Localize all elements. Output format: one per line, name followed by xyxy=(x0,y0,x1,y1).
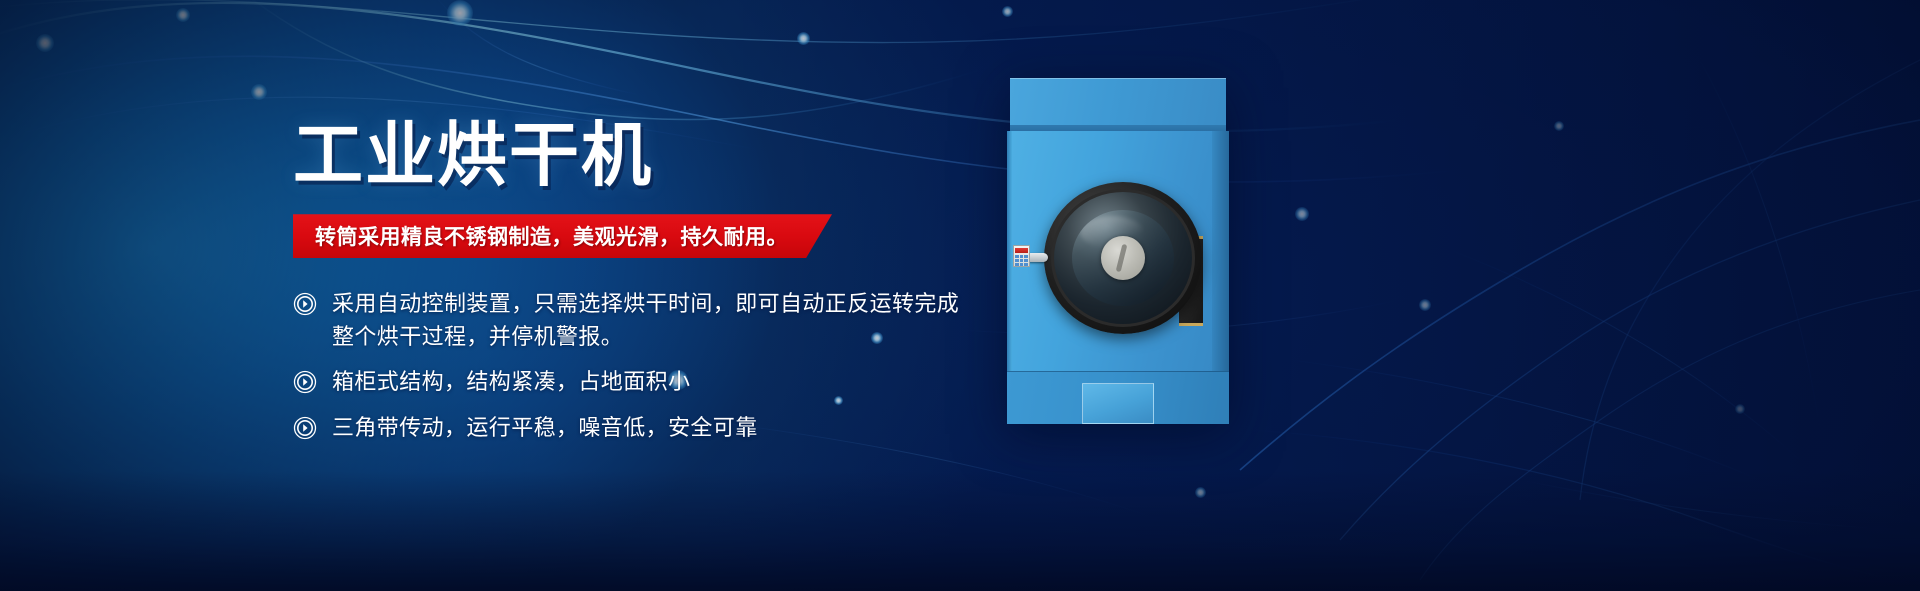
dryer-right-edge xyxy=(1212,131,1229,371)
glow-dot xyxy=(251,84,267,100)
product-hero-banner: 工业烘干机 转筒采用精良不锈钢制造，美观光滑，持久耐用。 采用自动控制装置，只需… xyxy=(0,0,1920,591)
glow-dot xyxy=(1002,6,1013,17)
glow-dot xyxy=(447,0,473,26)
dryer-round-door xyxy=(1044,182,1202,334)
highlight-banner-wrap: 转筒采用精良不锈钢制造，美观光滑，持久耐用。 xyxy=(293,214,1013,258)
dryer-door-ring xyxy=(1051,189,1195,327)
feature-text: 采用自动控制装置，只需选择烘干时间，即可自动正反运转完成 整个烘干过程，并停机警… xyxy=(332,288,959,353)
dryer-top-cabinet xyxy=(1010,78,1226,130)
product-image-industrial-dryer xyxy=(1007,78,1229,424)
feature-text: 三角带传动，运行平稳，噪音低，安全可靠 xyxy=(332,412,758,445)
control-panel-display xyxy=(1015,248,1028,253)
list-item: 采用自动控制装置，只需选择烘干时间，即可自动正反运转完成 整个烘干过程，并停机警… xyxy=(293,288,1013,353)
banner-title: 工业烘干机 xyxy=(293,118,1013,192)
dryer-access-hatch xyxy=(1082,383,1154,424)
glow-dot xyxy=(1419,299,1431,311)
glow-dot xyxy=(1295,207,1309,221)
dryer-drum-plate xyxy=(1101,236,1145,280)
list-item: 箱柜式结构，结构紧凑，占地面积小 xyxy=(293,366,1013,399)
circled-chevron-right-icon xyxy=(293,416,317,440)
glow-dot xyxy=(176,8,190,22)
highlight-banner: 转筒采用精良不锈钢制造，美观光滑，持久耐用。 xyxy=(293,214,832,258)
circled-chevron-right-icon xyxy=(293,370,317,394)
glow-dot xyxy=(797,32,810,45)
feature-list: 采用自动控制装置，只需选择烘干时间，即可自动正反运转完成 整个烘干过程，并停机警… xyxy=(293,288,1013,444)
glow-dot xyxy=(36,34,54,52)
list-item: 三角带传动，运行平稳，噪音低，安全可靠 xyxy=(293,412,1013,445)
glow-dot xyxy=(1554,121,1564,131)
dryer-control-panel xyxy=(1013,245,1030,267)
bottom-fade-overlay xyxy=(0,471,1920,591)
control-panel-keypad xyxy=(1015,255,1028,266)
circled-chevron-right-icon xyxy=(293,292,317,316)
highlight-banner-text: 转筒采用精良不锈钢制造，美观光滑，持久耐用。 xyxy=(315,221,788,251)
feature-text: 箱柜式结构，结构紧凑，占地面积小 xyxy=(332,366,690,399)
glow-dot xyxy=(1195,487,1206,498)
glow-dot xyxy=(1735,404,1745,414)
banner-content: 工业烘干机 转筒采用精良不锈钢制造，美观光滑，持久耐用。 采用自动控制装置，只需… xyxy=(293,118,1013,457)
